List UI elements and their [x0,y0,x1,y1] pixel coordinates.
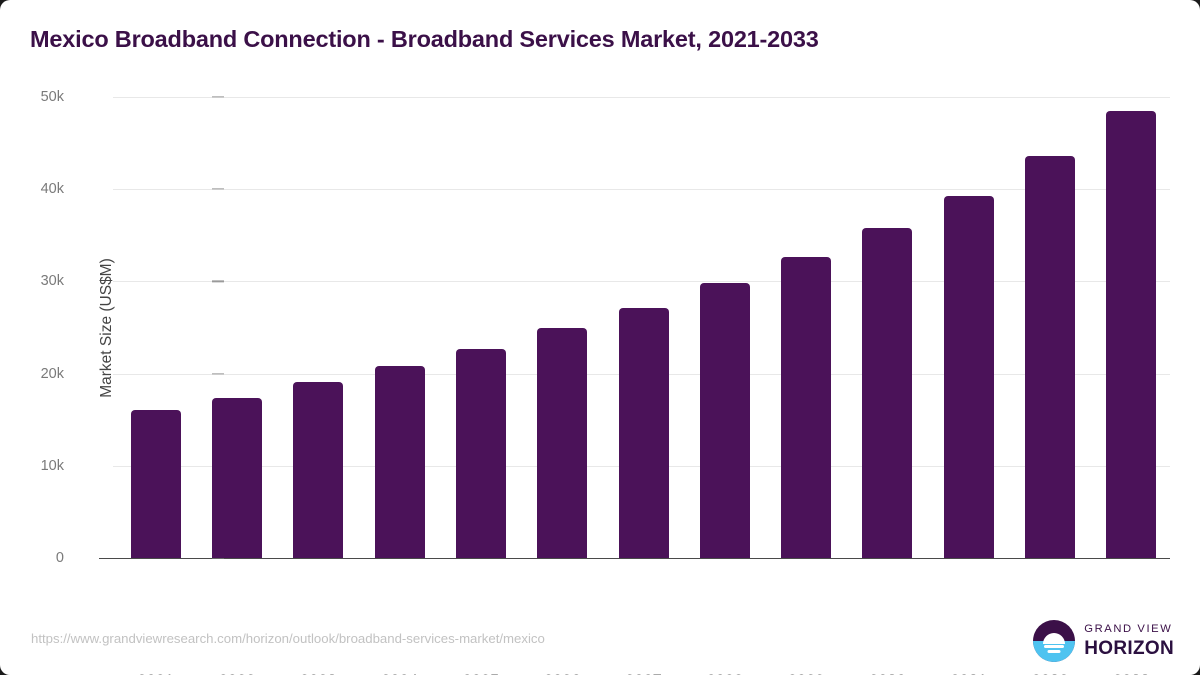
brand-logo: GRAND VIEW HORIZON [1033,620,1174,662]
bar[interactable] [944,196,994,558]
logo-line-horizon: HORIZON [1084,639,1174,658]
bar[interactable] [1025,156,1075,558]
bar[interactable] [212,398,262,558]
plot-area: Market Size (US$M) 010k20k30k40k50k 2021… [113,97,1170,558]
bar[interactable] [619,308,669,558]
y-tick-label: 0 [0,550,64,566]
bar[interactable] [456,349,506,558]
bar[interactable] [700,283,750,558]
logo-dome-shape [1043,633,1065,644]
horizon-sun-icon [1033,620,1075,662]
y-tick-mark [212,373,224,374]
y-tick-label: 40k [0,181,64,197]
bar[interactable] [1106,111,1156,558]
bar[interactable] [862,228,912,558]
logo-wordmark: GRAND VIEW HORIZON [1084,624,1174,657]
bar[interactable] [537,328,587,558]
source-url[interactable]: https://www.grandviewresearch.com/horizo… [31,631,545,646]
y-tick-mark [212,96,224,97]
gridline [113,189,1170,190]
y-axis-title: Market Size (US$M) [98,258,116,398]
y-tick-label: 50k [0,89,64,105]
bar[interactable] [375,366,425,558]
chart-card: Mexico Broadband Connection - Broadband … [0,0,1200,675]
y-tick-label: 30k [0,273,64,289]
bar[interactable] [293,382,343,558]
gridline [113,97,1170,98]
page-title: Mexico Broadband Connection - Broadband … [30,26,819,53]
y-tick-mark [212,281,224,282]
gridline [113,281,1170,282]
y-tick-label: 10k [0,458,64,474]
logo-line-grand-view: GRAND VIEW [1084,624,1174,635]
bar[interactable] [131,410,181,558]
y-tick-mark [212,189,224,190]
y-tick-label: 20k [0,366,64,382]
bar[interactable] [781,257,831,558]
